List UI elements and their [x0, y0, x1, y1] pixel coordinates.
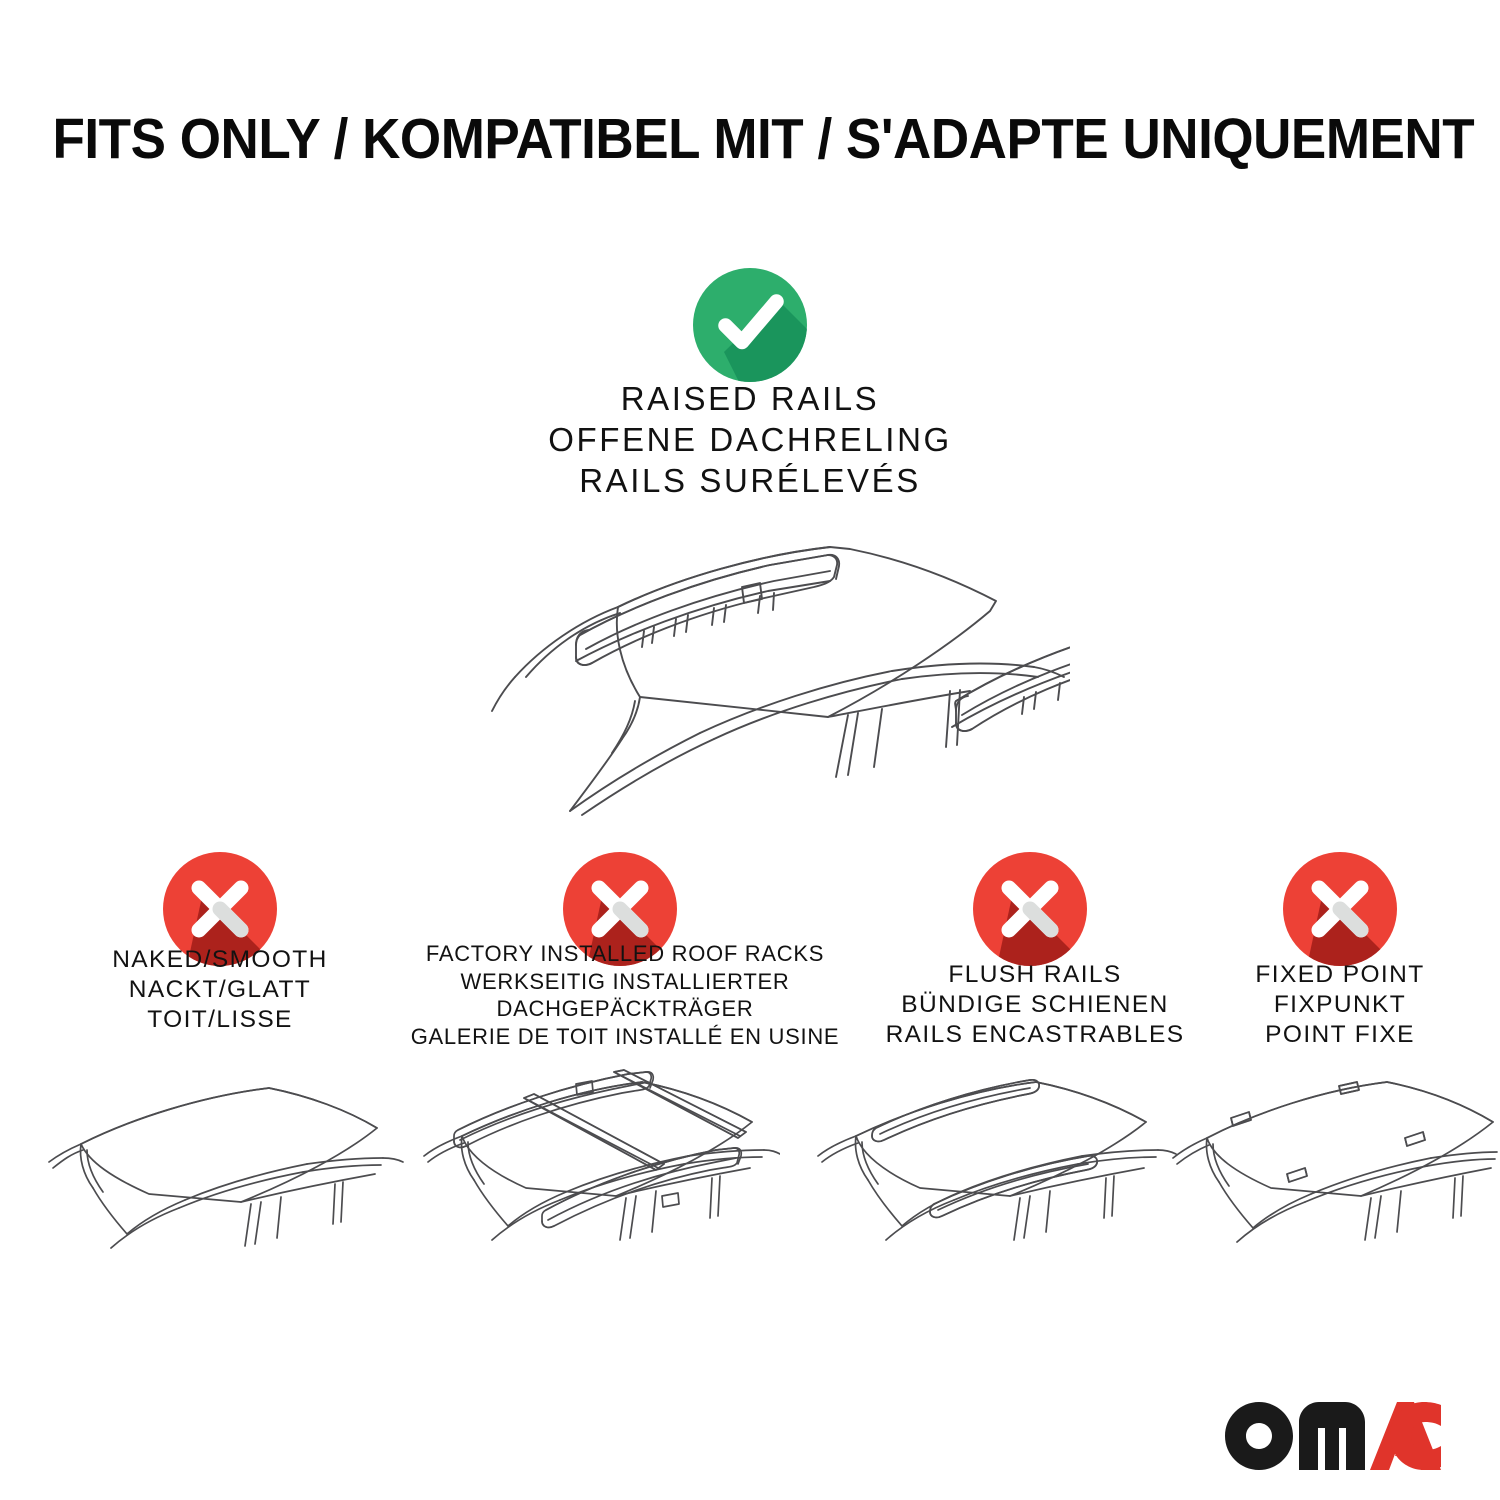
incompatible-label-line-3: POINT FIXE — [1190, 1020, 1490, 1050]
car-roof-fixed-point-illustration — [1165, 1062, 1500, 1292]
omac-logo — [1225, 1402, 1457, 1470]
incompatible-label-line-1: FACTORY INSTALLED ROOF RACKS — [390, 940, 860, 968]
page-title: FITS ONLY / KOMPATIBEL MIT / S'ADAPTE UN… — [53, 106, 1448, 172]
x-circle-icon — [1283, 852, 1397, 966]
incompatible-label-line-3: DACHGEPÄCKTRÄGER — [390, 995, 860, 1023]
car-roof-raised-rails-illustration — [430, 515, 1070, 825]
compatible-label-line-2: OFFENE DACHRELING — [0, 419, 1500, 460]
incompatible-label-fixed-point: FIXED POINT FIXPUNKT POINT FIXE — [1190, 960, 1490, 1050]
incompatible-label-line-3: RAILS ENCASTRABLES — [845, 1020, 1225, 1050]
incompatible-label-line-3: TOIT/LISSE — [20, 1005, 420, 1035]
car-roof-naked-smooth-illustration — [45, 1062, 405, 1292]
fitment-compatibility-graphic: FITS ONLY / KOMPATIBEL MIT / S'ADAPTE UN… — [0, 0, 1500, 1500]
incompatible-label-line-4: GALERIE DE TOIT INSTALLÉ EN USINE — [390, 1023, 860, 1051]
car-roof-factory-roof-racks-illustration — [400, 1060, 780, 1292]
logo-letter-m — [1299, 1402, 1365, 1470]
logo-letter-o — [1225, 1402, 1293, 1470]
incompatible-label-naked-smooth: NAKED/SMOOTH NACKT/GLATT TOIT/LISSE — [20, 945, 420, 1035]
car-roof-flush-rails-illustration — [800, 1062, 1180, 1292]
incompatible-label-line-2: NACKT/GLATT — [20, 975, 420, 1005]
incompatible-label-flush-rails: FLUSH RAILS BÜNDIGE SCHIENEN RAILS ENCAS… — [845, 960, 1225, 1050]
compatible-label: RAISED RAILS OFFENE DACHRELING RAILS SUR… — [0, 378, 1500, 501]
compatible-label-line-3: RAILS SURÉLEVÉS — [0, 460, 1500, 501]
compatible-label-line-1: RAISED RAILS — [0, 378, 1500, 419]
x-circle-icon — [973, 852, 1087, 966]
incompatible-label-factory-roof-racks: FACTORY INSTALLED ROOF RACKS WERKSEITIG … — [390, 940, 860, 1050]
incompatible-label-line-1: NAKED/SMOOTH — [20, 945, 420, 975]
incompatible-label-line-2: FIXPUNKT — [1190, 990, 1490, 1020]
incompatible-label-line-1: FLUSH RAILS — [845, 960, 1225, 990]
incompatible-label-line-2: BÜNDIGE SCHIENEN — [845, 990, 1225, 1020]
incompatible-label-line-1: FIXED POINT — [1190, 960, 1490, 990]
incompatible-label-line-2: WERKSEITIG INSTALLIERTER — [390, 968, 860, 996]
check-circle-icon — [693, 268, 807, 382]
